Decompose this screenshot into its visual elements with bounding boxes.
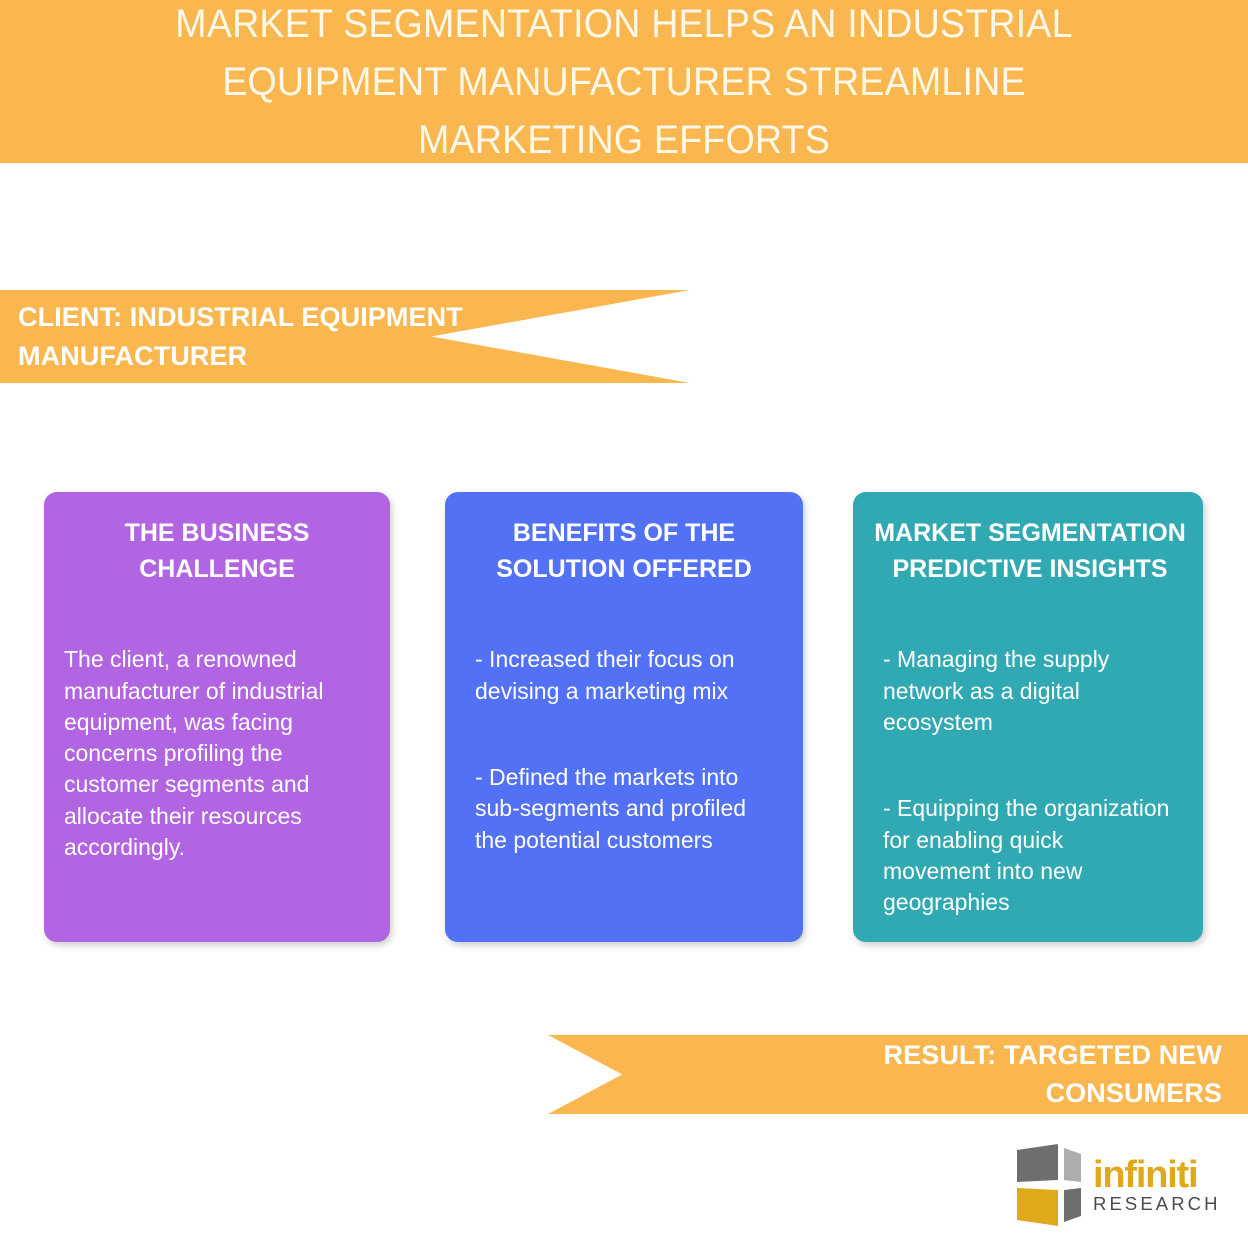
client-ribbon-label: CLIENT: INDUSTRIAL EQUIPMENT MANUFACTURE… [0,298,598,375]
logo-subtitle-text: RESEARCH [1093,1195,1221,1214]
card-predictive-insights: MARKET SEGMENTATION PREDICTIVE INSIGHTS … [853,492,1203,942]
client-ribbon: CLIENT: INDUSTRIAL EQUIPMENT MANUFACTURE… [0,290,690,383]
card-body: - Increased their focus on devising a ma… [463,613,785,887]
infiniti-research-logo: infiniti RESEARCH [1013,1140,1228,1230]
card-body: - Managing the supply network as a digit… [871,613,1185,950]
infiniti-logo-mark [1013,1142,1085,1228]
card-paragraph: - Increased their focus on devising a ma… [475,644,773,707]
card-business-challenge: THE BUSINESS CHALLENGE The client, a ren… [44,492,390,942]
card-body: The client, a renowned manufacturer of i… [62,613,372,894]
result-ribbon-label: RESULT: TARGETED NEW CONSUMERS [702,1037,1248,1113]
header-banner: MARKET SEGMENTATION HELPS AN INDUSTRIAL … [0,0,1248,163]
logo-wordmark: infiniti RESEARCH [1093,1157,1221,1214]
card-title: MARKET SEGMENTATION PREDICTIVE INSIGHTS [861,516,1199,587]
card-title: BENEFITS OF THE SOLUTION OFFERED [463,516,785,587]
card-paragraph: The client, a renowned manufacturer of i… [64,644,370,863]
card-paragraph: - Equipping the organization for enablin… [883,793,1173,918]
card-paragraph: - Managing the supply network as a digit… [883,644,1173,738]
result-ribbon: RESULT: TARGETED NEW CONSUMERS [548,1035,1248,1114]
logo-brand-text: infiniti [1093,1157,1221,1193]
card-benefits-of-solution: BENEFITS OF THE SOLUTION OFFERED - Incre… [445,492,803,942]
page-title: MARKET SEGMENTATION HELPS AN INDUSTRIAL … [112,0,1137,169]
card-paragraph: - Defined the markets into sub-segments … [475,762,773,856]
card-title: THE BUSINESS CHALLENGE [62,516,372,587]
